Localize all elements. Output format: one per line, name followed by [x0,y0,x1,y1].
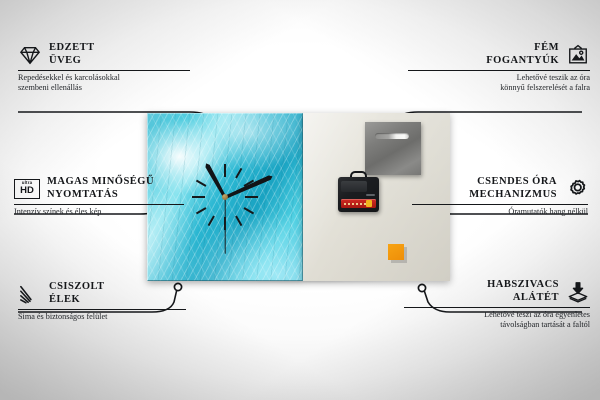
feature-rule [18,70,190,71]
metal-hanger-plate [365,122,421,175]
feature-title: CSENDES ÓRA MECHANIZMUS [469,176,557,201]
second-hand [224,197,225,254]
feature-sub-line1: Intenzív színek és éles kép [14,207,184,217]
feature-header: FÉM FOGANTYÚK [408,42,590,67]
feature-title: CSISZOLT ÉLEK [49,281,105,306]
feature-polished-edges[interactable]: CSISZOLT ÉLEK Sima és biztonságos felüle… [18,281,186,322]
feature-header: ultra HD MAGAS MINŐSÉGŰ NYOMTATÁS [14,176,184,201]
feature-title: HABSZIVACS ALÁTÉT [487,279,559,304]
feature-sub-line1: Lehetővé teszik az óra [408,73,590,83]
feature-sub-line2: könnyű felszerelését a falra [408,83,590,93]
foam-pad-icon [566,281,590,303]
wall-clock-product [147,113,450,281]
polished-edge-icon [18,283,42,305]
feature-header: CSENDES ÓRA MECHANIZMUS [412,176,588,201]
feature-header: CSISZOLT ÉLEK [18,281,186,306]
feature-sub-line1: Repedésekkel és karcolásokkal [18,73,190,83]
clock-mechanism [338,171,379,212]
diamond-icon [18,44,42,66]
feature-title: EDZETT ÜVEG [49,42,95,67]
feature-sub-line1: Sima és biztonságos felület [18,312,186,322]
battery [341,199,376,208]
feature-rule [14,204,184,205]
feature-quiet-mechanism[interactable]: CSENDES ÓRA MECHANIZMUS Óramutatók hang … [412,176,588,217]
product-shadow [150,280,447,289]
ultra-hd-icon: ultra HD [14,179,40,199]
feature-header: HABSZIVACS ALÁTÉT [404,279,590,304]
feature-title: FÉM FOGANTYÚK [486,42,559,67]
feature-high-quality-print[interactable]: ultra HD MAGAS MINŐSÉGŰ NYOMTATÁS Intenz… [14,176,184,217]
hanger-slot [375,133,409,139]
feature-header: EDZETT ÜVEG [18,42,190,67]
foam-pad [388,244,404,260]
feature-foam-pad[interactable]: HABSZIVACS ALÁTÉT Lehetővé teszi az óra … [404,279,590,329]
feature-sub-line1: Lehetővé teszi az óra egyenletes [404,310,590,320]
feature-sub-line1: Óramutatók hang nélkül [412,207,588,217]
hands-center-cap [222,194,228,200]
feature-rule [18,309,186,310]
gear-icon [564,178,588,200]
feature-rule [408,70,590,71]
feature-sub-line2: szembeni ellenállás [18,83,190,93]
feature-metal-handles[interactable]: FÉM FOGANTYÚK Lehetővé teszik az óra kön… [408,42,590,92]
ultra-hd-large-text: HD [20,186,34,196]
picture-hanger-icon [566,44,590,66]
feature-rule [404,307,590,308]
feature-tempered-glass[interactable]: EDZETT ÜVEG Repedésekkel és karcolásokka… [18,42,190,92]
mechanism-body [338,177,379,212]
feature-title: MAGAS MINŐSÉGŰ NYOMTATÁS [47,176,154,201]
feature-sub-line2: távolságban tartását a faltól [404,320,590,330]
feature-rule [412,204,588,205]
